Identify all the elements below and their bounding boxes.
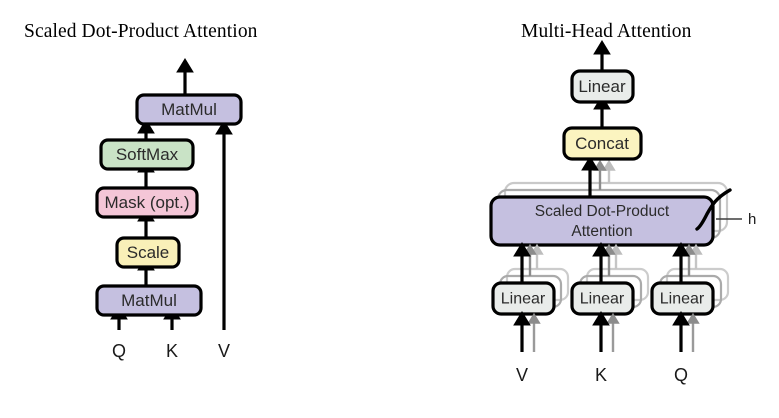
node-concat-label: Concat [575,134,629,153]
panel-scaled-dot-product-attention: MatMul SoftMax Mask (opt.) Scale MatMul … [97,65,241,361]
panel-multi-head-attention: Scaled Dot-Product Attention h Concat Li… [491,47,756,385]
node-matmul-bottom-label: MatMul [121,291,177,310]
node-scale-label: Scale [127,243,170,262]
input-label-q-right: Q [674,365,688,385]
node-softmax-label: SoftMax [116,145,179,164]
node-linear-q-label: Linear [660,291,705,308]
node-linear-v-label: Linear [501,291,546,308]
input-label-k-right: K [595,365,607,385]
node-linear-k-label: Linear [580,291,625,308]
input-label-v-right: V [516,365,528,385]
node-sdpa-label-line1: Scaled Dot-Product [535,203,670,220]
node-linear-output-label: Linear [578,77,626,96]
input-label-k-left: K [166,341,178,361]
input-label-v-left: V [218,341,230,361]
heads-count-label: h [748,211,756,228]
node-mask-label: Mask (opt.) [104,193,189,212]
figure-canvas: Scaled Dot-Product Attention Multi-Head … [0,0,779,418]
node-matmul-top-label: MatMul [161,100,217,119]
input-label-q-left: Q [112,341,126,361]
attention-diagram: MatMul SoftMax Mask (opt.) Scale MatMul … [0,0,779,418]
node-sdpa-label-line2: Attention [571,223,632,240]
